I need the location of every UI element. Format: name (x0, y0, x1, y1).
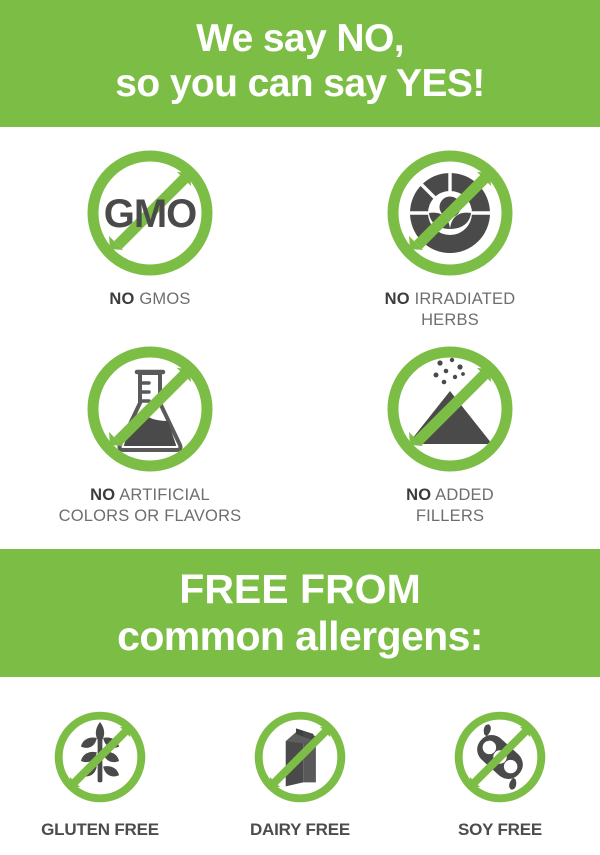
headline-top-line2: so you can say YES! (115, 62, 484, 106)
no-claim-line2: COLORS OR FLAVORS (59, 507, 242, 525)
infographic-page: We say NO, so you can say YES! GMO NO GM… (0, 0, 600, 855)
no-claim-artificial-colors: NO ARTIFICIAL COLORS OR FLAVORS (0, 341, 300, 537)
allergen-dairy-free: DAIRY FREE (200, 703, 400, 840)
no-claim-gmos: GMO NO GMOS (0, 145, 300, 341)
no-claim-label: NO IRRADIATED HERBS (385, 289, 516, 331)
no-prefix: NO (406, 486, 431, 504)
no-claim-line1: IRRADIATED (415, 290, 516, 308)
no-claims-grid: GMO NO GMOS (0, 127, 600, 537)
allergen-label: SOY FREE (458, 820, 542, 840)
headline-mid-line1: FREE FROM (179, 566, 420, 613)
no-artificial-colors-flask-icon (82, 341, 218, 477)
no-claim-added-fillers: NO ADDED FILLERS (300, 341, 600, 537)
headline-top-line1: We say NO, (196, 17, 404, 61)
headline-banner-top: We say NO, so you can say YES! (0, 0, 600, 127)
allergen-label: DAIRY FREE (250, 820, 350, 840)
no-claim-label: NO ADDED FILLERS (406, 485, 494, 527)
no-claim-label: NO GMOS (109, 289, 190, 310)
soy-free-soybean-icon (446, 703, 554, 811)
allergen-soy-free: SOY FREE (400, 703, 600, 840)
headline-banner-allergens: FREE FROM common allergens: (0, 549, 600, 677)
no-gmo-icon: GMO (82, 145, 218, 281)
gluten-free-wheat-icon (46, 703, 154, 811)
allergen-label: GLUTEN FREE (41, 820, 159, 840)
no-claim-irradiated-herbs: NO IRRADIATED HERBS (300, 145, 600, 341)
no-added-fillers-icon (382, 341, 518, 477)
no-claim-line2: HERBS (421, 311, 479, 329)
no-claim-label: NO ARTIFICIAL COLORS OR FLAVORS (59, 485, 242, 527)
no-claim-line1: ADDED (435, 486, 494, 504)
svg-text:GMO: GMO (104, 192, 197, 236)
allergen-gluten-free: GLUTEN FREE (0, 703, 200, 840)
no-claim-line1: ARTIFICIAL (119, 486, 210, 504)
headline-mid-line2: common allergens: (117, 613, 483, 660)
allergen-badges-row: GLUTEN FREE DAI (0, 677, 600, 840)
no-prefix: NO (90, 486, 115, 504)
no-claim-line1: GMOS (139, 290, 190, 308)
no-irradiated-herbs-icon (382, 145, 518, 281)
no-claim-line2: FILLERS (416, 507, 484, 525)
no-prefix: NO (109, 290, 134, 308)
dairy-free-carton-icon (246, 703, 354, 811)
no-prefix: NO (385, 290, 410, 308)
